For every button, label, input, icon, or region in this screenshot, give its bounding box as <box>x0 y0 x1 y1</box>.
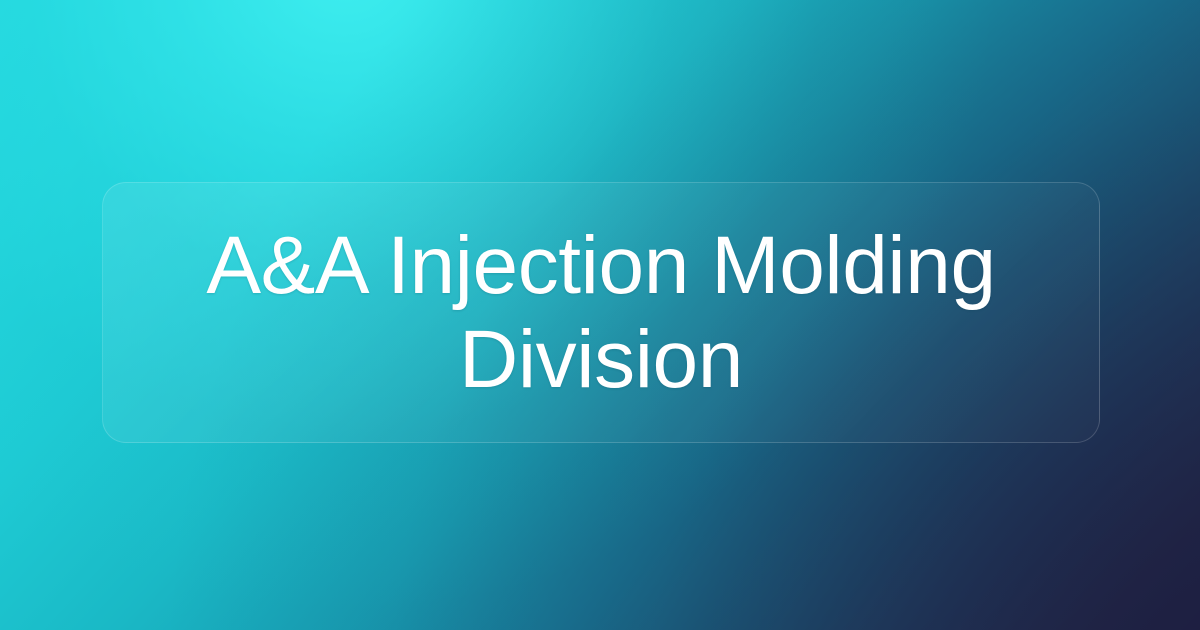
banner-root: A&A Injection Molding Division <box>0 0 1200 630</box>
title-card: A&A Injection Molding Division <box>102 182 1100 443</box>
page-title: A&A Injection Molding Division <box>103 219 1099 406</box>
